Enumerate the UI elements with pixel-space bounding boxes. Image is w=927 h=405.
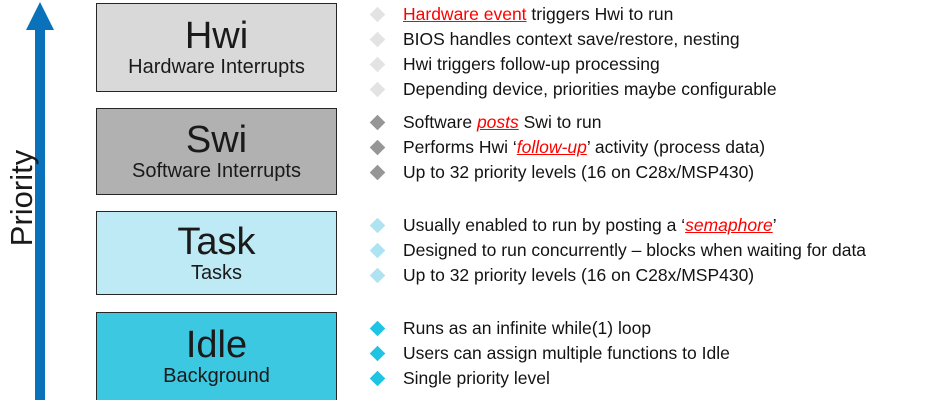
priority-axis: Priority	[0, 0, 90, 400]
bullet-text: Users can assign multiple functions to I…	[403, 341, 730, 366]
bullet-text: Up to 32 priority levels (16 on C28x/MSP…	[403, 263, 754, 288]
bullet-text-plain: Up to 32 priority levels (16 on C28x/MSP…	[403, 162, 754, 182]
bullet-text: Performs Hwi ‘follow-up’ activity (proce…	[403, 135, 765, 160]
bullet-row: Up to 32 priority levels (16 on C28x/MSP…	[372, 160, 924, 185]
diamond-bullet-icon	[370, 165, 386, 181]
bullet-row: Depending device, priorities maybe confi…	[372, 77, 924, 102]
diamond-bullet-icon	[370, 140, 386, 156]
bullet-row: Usually enabled to run by posting a ‘sem…	[372, 213, 924, 238]
thread-box-swi-name: Swi	[186, 121, 247, 159]
diamond-bullet-icon	[370, 57, 386, 73]
bullet-text: Up to 32 priority levels (16 on C28x/MSP…	[403, 160, 754, 185]
thread-box-idle-name: Idle	[186, 326, 247, 364]
bullet-group-task: Usually enabled to run by posting a ‘sem…	[372, 213, 924, 288]
bullet-text-highlight: semaphore	[685, 215, 773, 235]
bullet-row: Software posts Swi to run	[372, 110, 924, 135]
bullet-text-plain: Performs Hwi ‘	[403, 137, 517, 157]
bullet-text: Single priority level	[403, 366, 550, 391]
bullet-text-highlight: Hardware event	[403, 4, 527, 24]
bullet-text-highlight: posts	[477, 112, 519, 132]
bullet-text-plain: Swi to run	[519, 112, 602, 132]
bullet-text: Depending device, priorities maybe confi…	[403, 77, 777, 102]
diamond-bullet-icon	[370, 243, 386, 259]
bullet-row: BIOS handles context save/restore, nesti…	[372, 27, 924, 52]
thread-box-hwi-name: Hwi	[185, 17, 248, 55]
bullet-text-plain: Designed to run concurrently – blocks wh…	[403, 240, 866, 260]
bullet-text-plain: Runs as an infinite while(1) loop	[403, 318, 651, 338]
bullet-text-plain: Depending device, priorities maybe confi…	[403, 79, 777, 99]
bullet-text: Usually enabled to run by posting a ‘sem…	[403, 213, 777, 238]
bullet-group-idle: Runs as an infinite while(1) loopUsers c…	[372, 316, 924, 391]
bullet-text: Software posts Swi to run	[403, 110, 601, 135]
bullet-row: Runs as an infinite while(1) loop	[372, 316, 924, 341]
bullet-text-plain: Users can assign multiple functions to I…	[403, 343, 730, 363]
thread-box-idle-description: Background	[163, 365, 270, 387]
diamond-bullet-icon	[370, 82, 386, 98]
bullet-text-plain: Usually enabled to run by posting a ‘	[403, 215, 685, 235]
bullet-text-plain: triggers Hwi to run	[527, 4, 674, 24]
thread-box-task-description: Tasks	[191, 262, 242, 284]
bullet-row: Designed to run concurrently – blocks wh…	[372, 238, 924, 263]
bullet-text: Designed to run concurrently – blocks wh…	[403, 238, 866, 263]
bullet-text-plain: ’ activity (process data)	[587, 137, 765, 157]
bullet-group-hwi: Hardware event triggers Hwi to runBIOS h…	[372, 2, 924, 102]
thread-box-swi-description: Software Interrupts	[132, 160, 301, 182]
diamond-bullet-icon	[370, 371, 386, 387]
bullet-row: Performs Hwi ‘follow-up’ activity (proce…	[372, 135, 924, 160]
bullet-text: BIOS handles context save/restore, nesti…	[403, 27, 740, 52]
diamond-bullet-icon	[370, 32, 386, 48]
bullet-text: Runs as an infinite while(1) loop	[403, 316, 651, 341]
diamond-bullet-icon	[370, 7, 386, 23]
bullet-row: Single priority level	[372, 366, 924, 391]
thread-box-task[interactable]: Task Tasks	[96, 211, 337, 295]
thread-box-swi[interactable]: Swi Software Interrupts	[96, 108, 337, 195]
bullet-row: Users can assign multiple functions to I…	[372, 341, 924, 366]
bullet-row: Hwi triggers follow-up processing	[372, 52, 924, 77]
thread-box-task-name: Task	[177, 223, 255, 261]
diamond-bullet-icon	[370, 218, 386, 234]
bullet-text-plain: BIOS handles context save/restore, nesti…	[403, 29, 740, 49]
thread-box-idle[interactable]: Idle Background	[96, 312, 337, 400]
bullet-row: Up to 32 priority levels (16 on C28x/MSP…	[372, 263, 924, 288]
priority-axis-label: Priority	[4, 98, 40, 298]
diamond-bullet-icon	[370, 346, 386, 362]
diamond-bullet-icon	[370, 268, 386, 284]
bullet-text: Hwi triggers follow-up processing	[403, 52, 660, 77]
bullet-text-plain: Up to 32 priority levels (16 on C28x/MSP…	[403, 265, 754, 285]
bullet-row: Hardware event triggers Hwi to run	[372, 2, 924, 27]
bullet-group-swi: Software posts Swi to runPerforms Hwi ‘f…	[372, 110, 924, 185]
diamond-bullet-icon	[370, 115, 386, 131]
bullet-text: Hardware event triggers Hwi to run	[403, 2, 673, 27]
thread-box-hwi[interactable]: Hwi Hardware Interrupts	[96, 3, 337, 92]
bullet-text-highlight: follow-up	[517, 137, 587, 157]
bullet-text-plain: Software	[403, 112, 477, 132]
bullet-text-plain: ’	[773, 215, 777, 235]
diamond-bullet-icon	[370, 321, 386, 337]
bullet-text-plain: Single priority level	[403, 368, 550, 388]
thread-box-hwi-description: Hardware Interrupts	[128, 56, 305, 78]
bullet-text-plain: Hwi triggers follow-up processing	[403, 54, 660, 74]
